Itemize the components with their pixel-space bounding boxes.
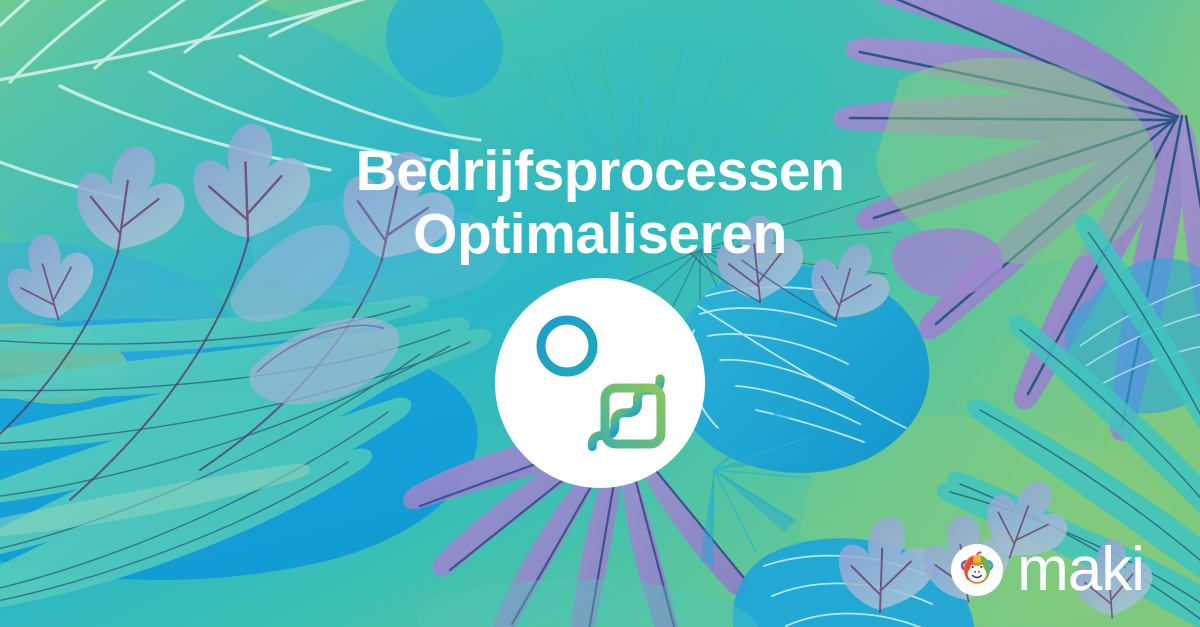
icon-circle-node [541, 320, 593, 372]
banner: Bedrijfsprocessen Optimaliseren [0, 0, 1200, 627]
maki-monkey-icon [951, 544, 1003, 596]
process-flow-icon [495, 278, 705, 488]
logo-wordmark: maki [1017, 541, 1144, 599]
center-badge [495, 278, 705, 488]
brand-logo[interactable]: maki [951, 541, 1144, 599]
